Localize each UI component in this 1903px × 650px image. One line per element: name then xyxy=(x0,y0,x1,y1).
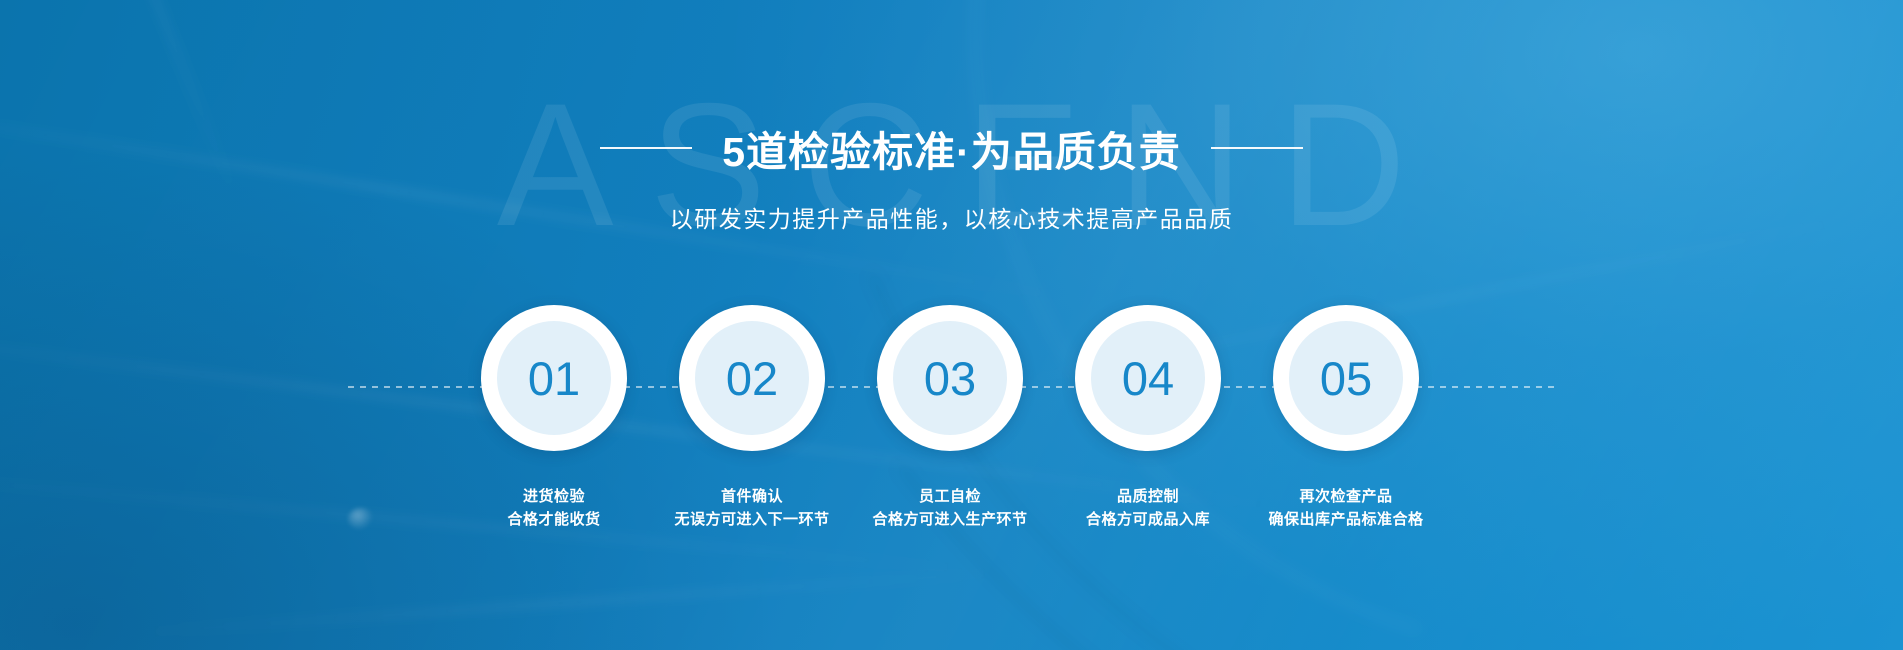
title-rule-left xyxy=(600,147,692,149)
step-circle-inner-03: 03 xyxy=(893,321,1007,435)
step-caption-01: 进货检验 合格才能收货 xyxy=(507,485,600,532)
step-number-01: 01 xyxy=(528,355,580,402)
step-circle-inner-04: 04 xyxy=(1091,321,1205,435)
step-caption-05: 再次检查产品 确保出库产品标准合格 xyxy=(1268,485,1423,532)
title-rule-right xyxy=(1211,147,1303,149)
step-circle-03[interactable]: 03 xyxy=(877,305,1023,451)
step-caption-04: 品质控制 合格方可成品入库 xyxy=(1086,485,1210,532)
step-title-04: 品质控制 xyxy=(1086,485,1210,508)
step-description-02: 无误方可进入下一环节 xyxy=(674,508,829,531)
step-circle-inner-05: 05 xyxy=(1289,321,1403,435)
step-title-03: 员工自检 xyxy=(872,485,1027,508)
step-item-03[interactable]: 03 员工自检 合格方可进入生产环节 xyxy=(851,305,1049,532)
step-description-04: 合格方可成品入库 xyxy=(1086,508,1210,531)
step-item-04[interactable]: 04 品质控制 合格方可成品入库 xyxy=(1049,305,1247,532)
step-circle-inner-02: 02 xyxy=(695,321,809,435)
step-title-01: 进货检验 xyxy=(507,485,600,508)
step-description-03: 合格方可进入生产环节 xyxy=(872,508,1027,531)
step-circle-04[interactable]: 04 xyxy=(1075,305,1221,451)
process-steps-section: 01 进货检验 合格才能收货 02 首件确认 无误方可进入下一环节 xyxy=(0,305,1903,565)
step-title-02: 首件确认 xyxy=(674,485,829,508)
heading-block: 5道检验标准·为品质负责 以研发实力提升产品性能，以核心技术提高产品品质 xyxy=(0,118,1903,234)
step-number-05: 05 xyxy=(1320,355,1372,402)
step-circle-inner-01: 01 xyxy=(497,321,611,435)
step-item-02[interactable]: 02 首件确认 无误方可进入下一环节 xyxy=(653,305,851,532)
quality-inspection-banner: ASCEND 5道检验标准·为品质负责 以研发实力提升产品性能，以核心技术提高产… xyxy=(0,0,1903,650)
step-item-01[interactable]: 01 进货检验 合格才能收货 xyxy=(455,305,653,532)
step-description-05: 确保出库产品标准合格 xyxy=(1268,508,1423,531)
page-title: 5道检验标准·为品质负责 xyxy=(722,118,1180,178)
background-streak-6 xyxy=(121,569,1019,637)
step-circle-01[interactable]: 01 xyxy=(481,305,627,451)
step-number-02: 02 xyxy=(726,355,778,402)
step-circle-02[interactable]: 02 xyxy=(679,305,825,451)
step-item-05[interactable]: 05 再次检查产品 确保出库产品标准合格 xyxy=(1247,305,1445,532)
page-subtitle: 以研发实力提升产品性能，以核心技术提高产品品质 xyxy=(0,200,1903,234)
title-row: 5道检验标准·为品质负责 xyxy=(0,118,1903,178)
step-number-03: 03 xyxy=(924,355,976,402)
step-circle-05[interactable]: 05 xyxy=(1273,305,1419,451)
step-caption-02: 首件确认 无误方可进入下一环节 xyxy=(674,485,829,532)
step-list: 01 进货检验 合格才能收货 02 首件确认 无误方可进入下一环节 xyxy=(455,305,1445,532)
step-number-04: 04 xyxy=(1122,355,1174,402)
step-title-05: 再次检查产品 xyxy=(1268,485,1423,508)
step-description-01: 合格才能收货 xyxy=(507,508,600,531)
step-caption-03: 员工自检 合格方可进入生产环节 xyxy=(872,485,1027,532)
